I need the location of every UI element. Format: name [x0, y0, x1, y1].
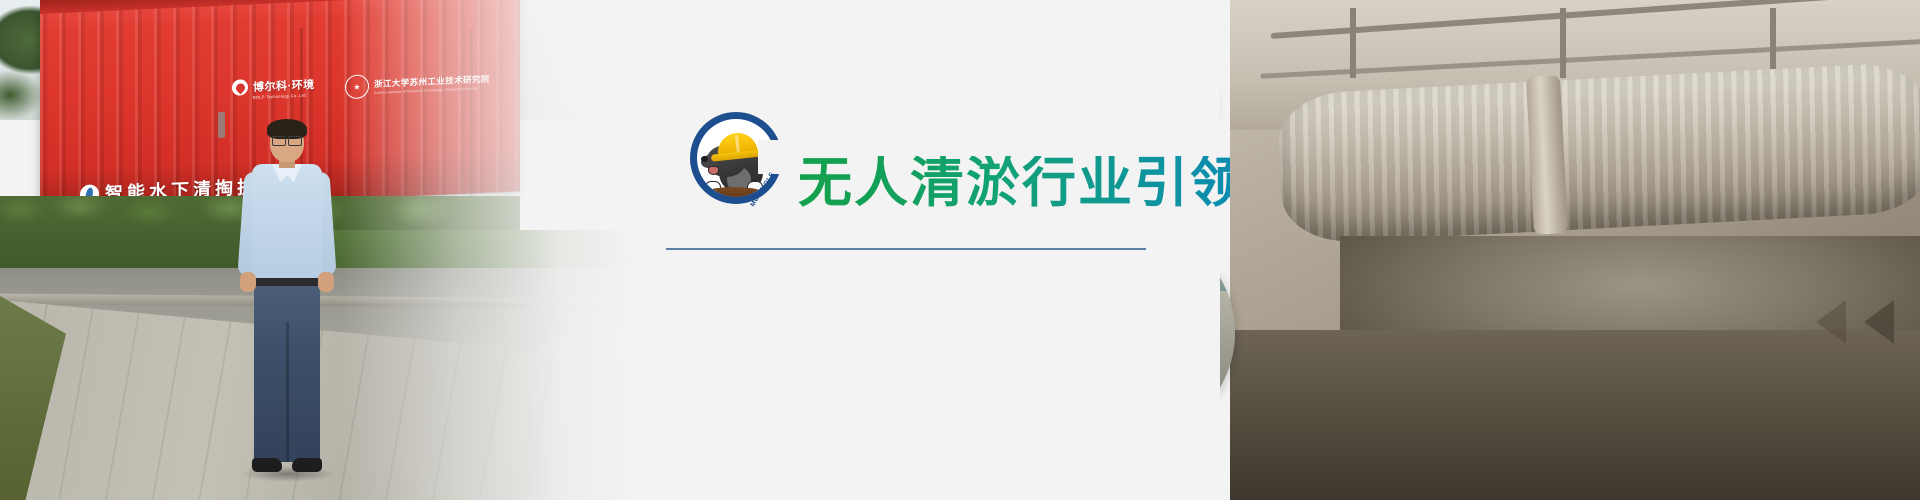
discharge-pipe-photo: [1230, 0, 1920, 500]
chevron-marker-icon: [1864, 300, 1894, 344]
left-photo-engineer-container: 博尔科·环境 BOLP Technology Co.,Ltd. ★ 浙江大学苏州…: [0, 0, 640, 500]
mud-mole-logo: MUD MOLE: [690, 112, 782, 204]
rail-post: [1560, 8, 1566, 78]
person-shirt: [252, 164, 322, 282]
rail-post: [1350, 8, 1356, 78]
divider: [666, 248, 1146, 250]
person-left-hand: [240, 272, 256, 292]
person-leg-seam: [286, 322, 289, 462]
engineer-person: [232, 122, 342, 500]
person-right-shoe: [292, 458, 322, 472]
person-belt: [254, 278, 320, 286]
right-photo-group: [1220, 0, 1920, 500]
hero-banner: 博尔科·环境 BOLP Technology Co.,Ltd. ★ 浙江大学苏州…: [0, 0, 1920, 500]
container-brand-logo: 博尔科·环境 BOLP Technology Co.,Ltd.: [232, 76, 315, 96]
logo-arc-text: MUD MOLE: [739, 156, 791, 208]
person-left-shoe: [252, 458, 282, 472]
rail-post: [1770, 8, 1776, 78]
glasses-icon: [272, 136, 302, 144]
photo-fade-overlay: [340, 0, 640, 500]
chevron-marker-icon: [1816, 300, 1846, 344]
center-content: MUD MOLE 无人清淤行业引领者: [640, 0, 1280, 500]
pipe-photo-ground: [1230, 330, 1920, 500]
person-right-hand: [318, 272, 334, 292]
concrete-deck: [1220, 291, 1235, 440]
container-door-handle: [218, 112, 225, 138]
brand-mark-icon: [232, 79, 248, 96]
dredging-robot-photo-circle: [1220, 225, 1235, 440]
